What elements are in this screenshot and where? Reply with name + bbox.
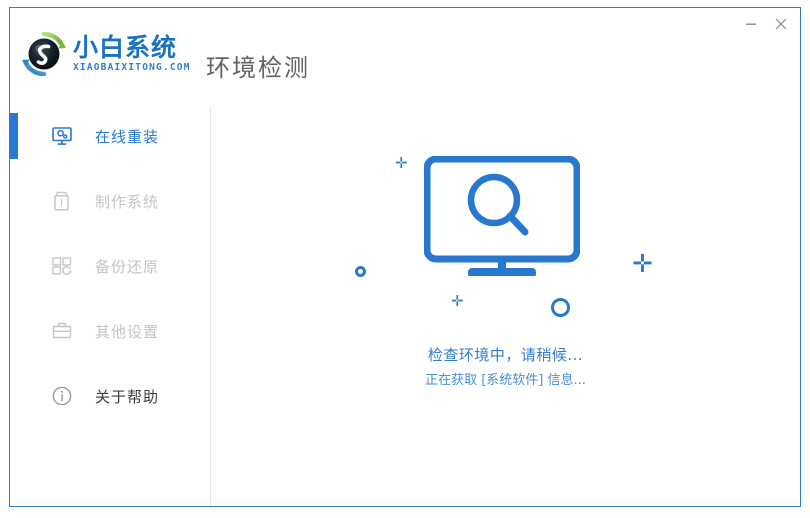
window-controls xyxy=(736,12,796,36)
sidebar-item-label: 制作系统 xyxy=(95,191,159,212)
sidebar-item-about-help[interactable]: 关于帮助 xyxy=(10,373,210,419)
status-primary: 检查环境中，请稍候... xyxy=(211,344,800,365)
minimize-icon xyxy=(745,18,757,30)
active-indicator xyxy=(10,113,18,159)
page-title: 环境检测 xyxy=(206,48,310,83)
toolbox-icon xyxy=(51,320,73,342)
ring-medium-bottom-icon xyxy=(551,298,570,317)
info-circle-icon xyxy=(51,385,73,407)
minimize-button[interactable] xyxy=(736,12,766,36)
sidebar-item-make-system[interactable]: 制作系统 xyxy=(10,178,210,224)
sidebar-item-label: 关于帮助 xyxy=(95,386,159,407)
sidebar-item-label: 其他设置 xyxy=(95,321,159,342)
usb-drive-icon xyxy=(51,190,73,212)
sidebar-item-label: 备份还原 xyxy=(95,256,159,277)
logo-swirl-icon xyxy=(22,32,66,76)
hero-illustration: ✛ ✛ ✛ 检查 xyxy=(211,106,800,507)
brand-name: 小白系统 xyxy=(73,35,191,61)
monitor-search-icon xyxy=(424,156,580,281)
close-icon xyxy=(775,18,787,30)
sidebar-item-online-reinstall[interactable]: 在线重装 xyxy=(10,113,210,159)
plus-large-right-icon: ✛ xyxy=(632,251,653,276)
main-stage: ✛ ✛ ✛ 检查 xyxy=(211,106,800,507)
sidebar-item-other-settings[interactable]: 其他设置 xyxy=(10,308,210,354)
status-secondary: 正在获取 [系统软件] 信息... xyxy=(211,369,800,388)
grid-restore-icon xyxy=(51,255,73,277)
title-bar: 小白系统 XIAOBAIXITONG.COM 环境检测 xyxy=(10,8,800,106)
brand-domain: XIAOBAIXITONG.COM xyxy=(73,62,191,73)
plus-small-topleft-icon: ✛ xyxy=(395,156,408,171)
sidebar: 在线重装 制作系统 xyxy=(10,106,211,507)
sidebar-item-backup-restore[interactable]: 备份还原 xyxy=(10,243,210,289)
app-window: 小白系统 XIAOBAIXITONG.COM 环境检测 xyxy=(9,7,801,507)
close-button[interactable] xyxy=(766,12,796,36)
circle-small-left-icon xyxy=(355,266,366,277)
sidebar-item-label: 在线重装 xyxy=(95,126,159,147)
plus-small-bottomleft-icon: ✛ xyxy=(451,294,464,309)
body-area: 在线重装 制作系统 xyxy=(10,106,800,507)
desktop-background: 小白系统 XIAOBAIXITONG.COM 环境检测 xyxy=(0,0,810,518)
brand-logo: 小白系统 XIAOBAIXITONG.COM xyxy=(22,32,191,76)
monitor-settings-icon xyxy=(51,125,73,147)
